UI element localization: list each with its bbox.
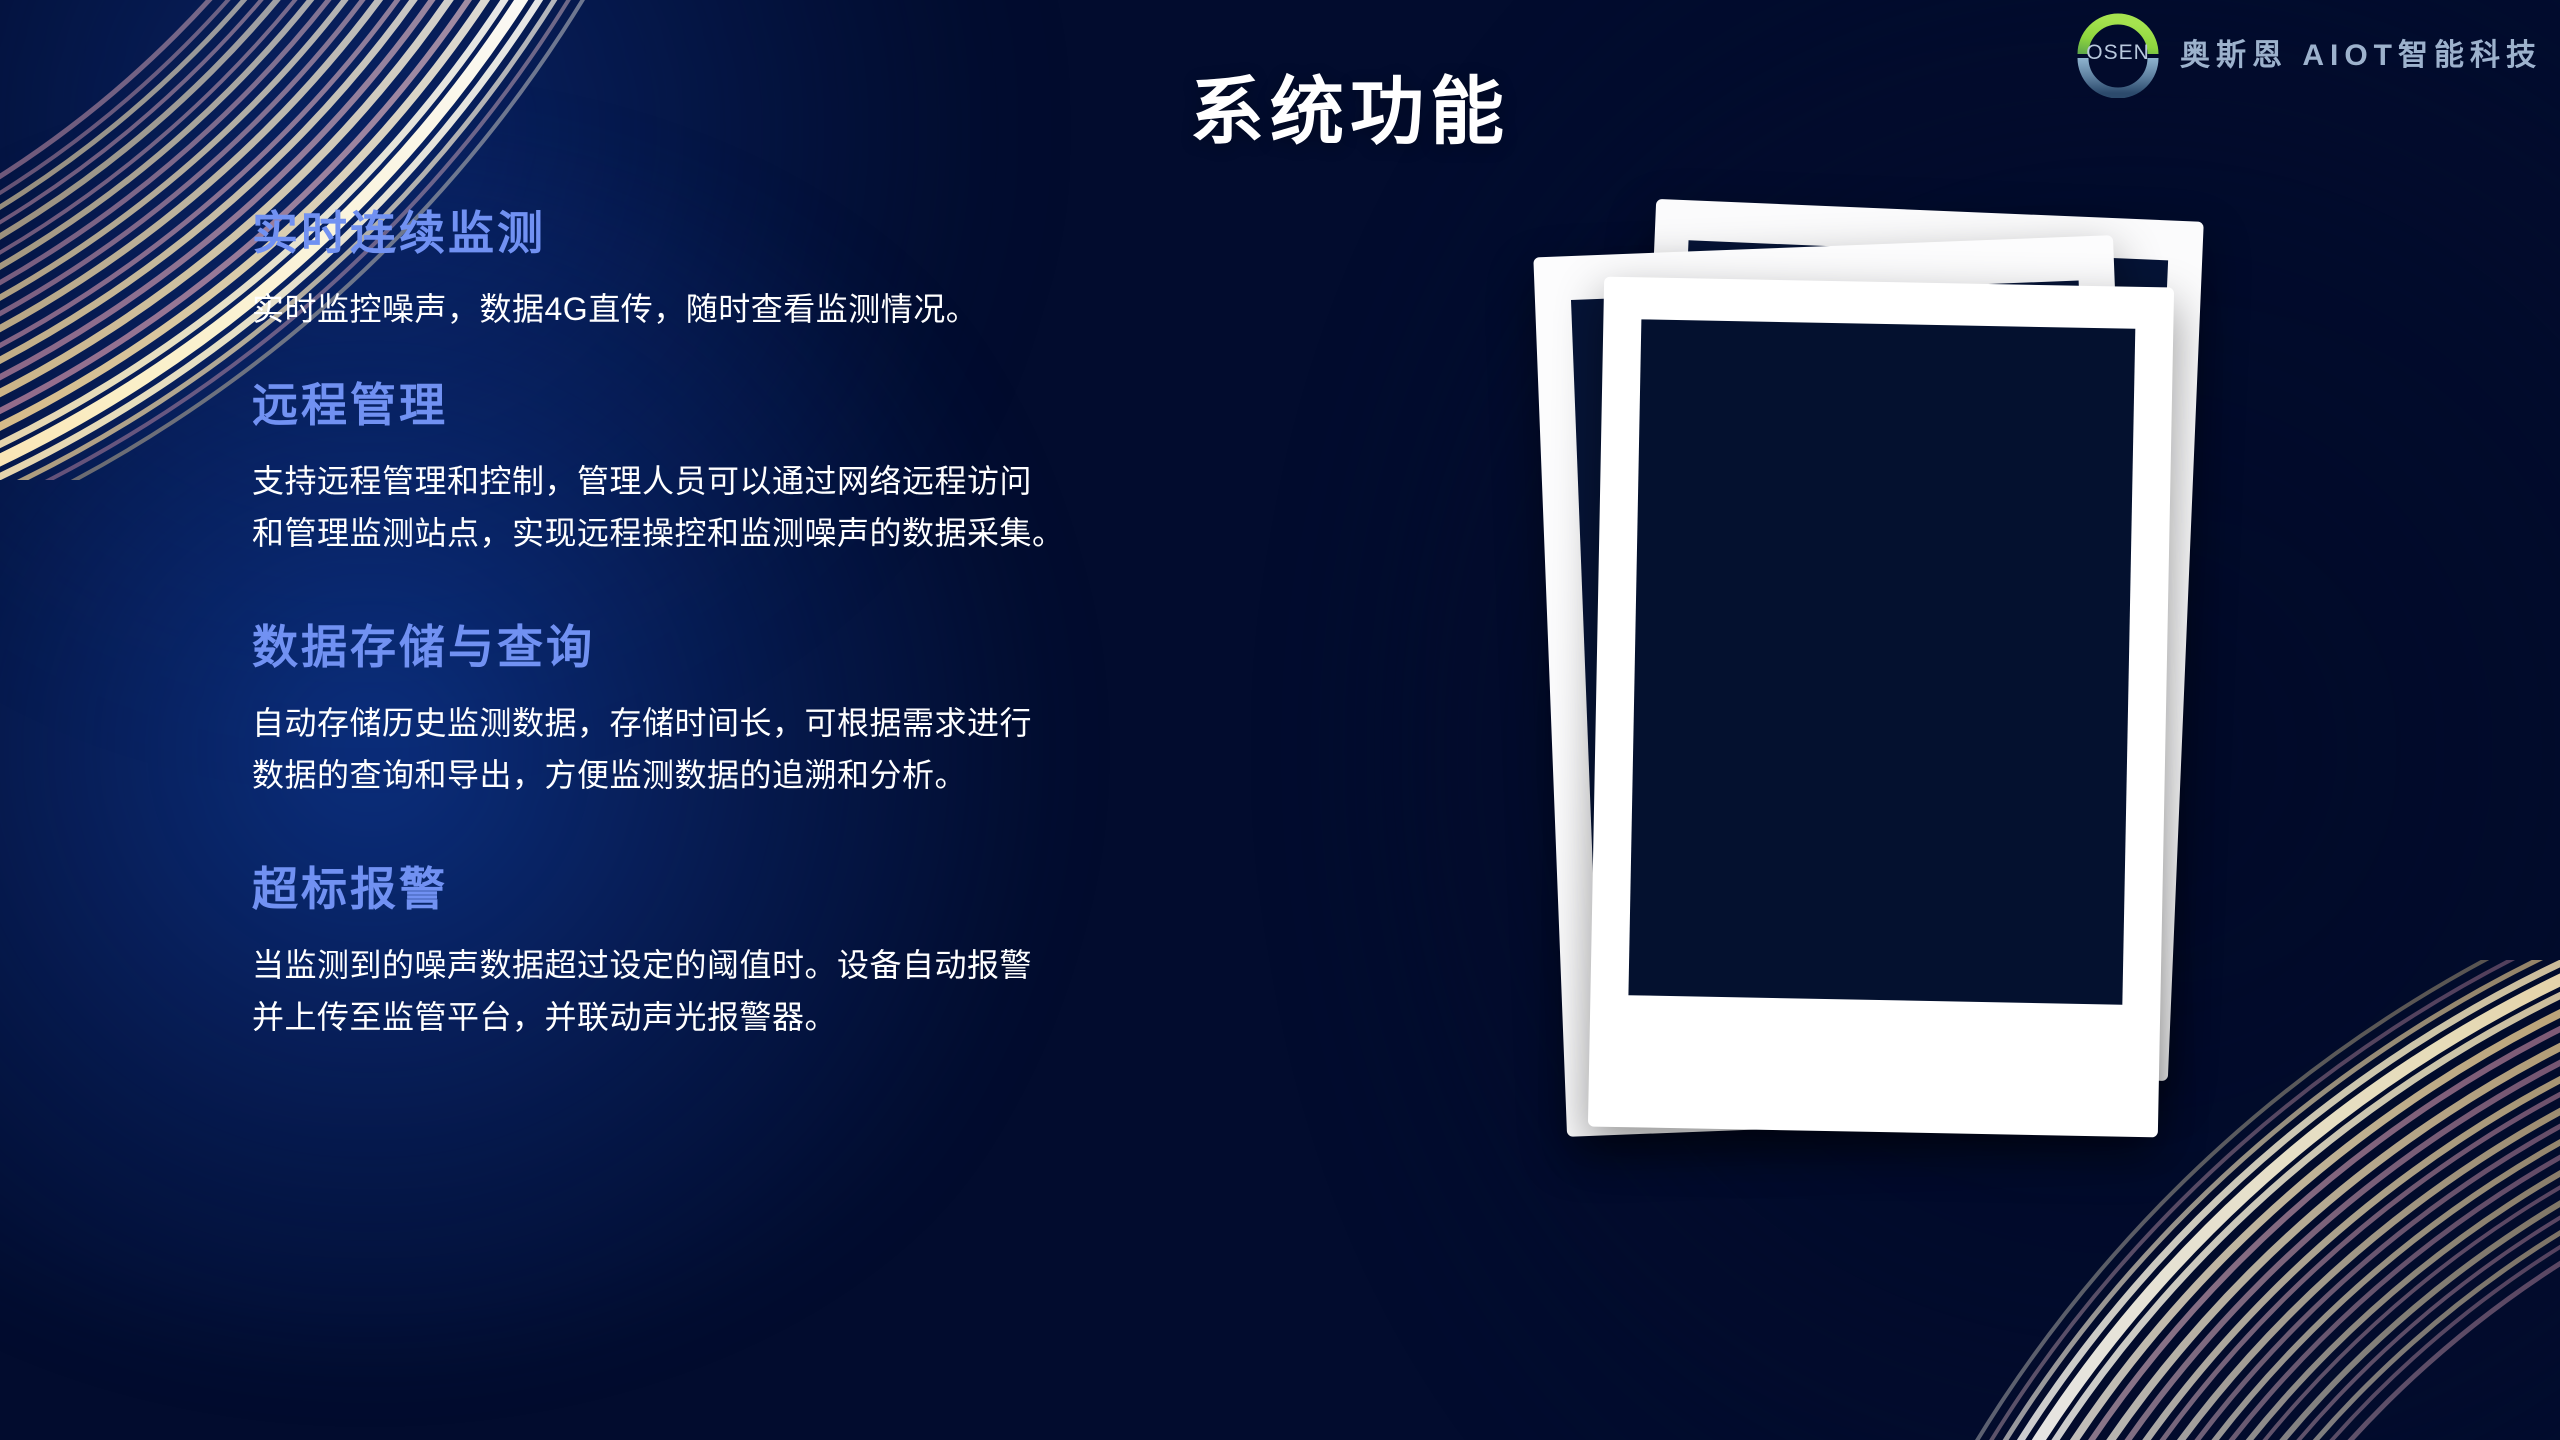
feature-body-line: 数据的查询和导出，方便监测数据的追溯和分析。 [252, 750, 1382, 802]
feature-section: 实时连续监测 实时监控噪声，数据4G直传，随时查看监测情况。 [252, 206, 1382, 336]
feature-body: 自动存储历史监测数据，存储时间长，可根据需求进行 数据的查询和导出，方便监测数据… [252, 698, 1382, 802]
feature-body: 当监测到的噪声数据超过设定的阈值时。设备自动报警 并上传至监管平台，并联动声光报… [252, 940, 1382, 1044]
feature-heading: 实时连续监测 [252, 206, 1382, 260]
feature-heading: 数据存储与查询 [252, 620, 1382, 674]
feature-section: 远程管理 支持远程管理和控制，管理人员可以通过网络远程访问 和管理监测站点，实现… [252, 378, 1382, 560]
feature-list: 实时连续监测 实时监控噪声，数据4G直传，随时查看监测情况。 远程管理 支持远程… [252, 206, 1382, 1044]
feature-heading: 远程管理 [252, 378, 1382, 432]
feature-body-line: 和管理监测站点，实现远程操控和监测噪声的数据采集。 [252, 508, 1382, 560]
photo-frame-front [1588, 277, 2174, 1138]
feature-body-line: 并上传至监管平台，并联动声光报警器。 [252, 992, 1382, 1044]
feature-body-line: 当监测到的噪声数据超过设定的阈值时。设备自动报警 [252, 940, 1382, 992]
slide-root: 系统功能 [0, 0, 2560, 1440]
spacer [252, 602, 1382, 620]
feature-section: 超标报警 当监测到的噪声数据超过设定的阈值时。设备自动报警 并上传至监管平台，并… [252, 862, 1382, 1044]
feature-body-line: 自动存储历史监测数据，存储时间长，可根据需求进行 [252, 698, 1382, 750]
photo-frame-front-image [1628, 319, 2135, 1004]
feature-body-line: 支持远程管理和控制，管理人员可以通过网络远程访问 [252, 456, 1382, 508]
feature-body: 实时监控噪声，数据4G直传，随时查看监测情况。 [252, 284, 1382, 336]
feature-section: 数据存储与查询 自动存储历史监测数据，存储时间长，可根据需求进行 数据的查询和导… [252, 620, 1382, 802]
photo-frame-stack [1530, 210, 2390, 1270]
osen-wordmark: OSEN [2072, 41, 2164, 65]
feature-body-line: 实时监控噪声，数据4G直传，随时查看监测情况。 [252, 284, 1382, 336]
brand-logo: OSEN 奥斯恩 AIOT智能科技 [2072, 6, 2542, 98]
spacer [252, 844, 1382, 862]
osen-ring-icon: OSEN [2072, 6, 2164, 98]
brand-name: 奥斯恩 AIOT智能科技 [2180, 30, 2542, 74]
feature-heading: 超标报警 [252, 862, 1382, 916]
feature-body: 支持远程管理和控制，管理人员可以通过网络远程访问 和管理监测站点，实现远程操控和… [252, 456, 1382, 560]
